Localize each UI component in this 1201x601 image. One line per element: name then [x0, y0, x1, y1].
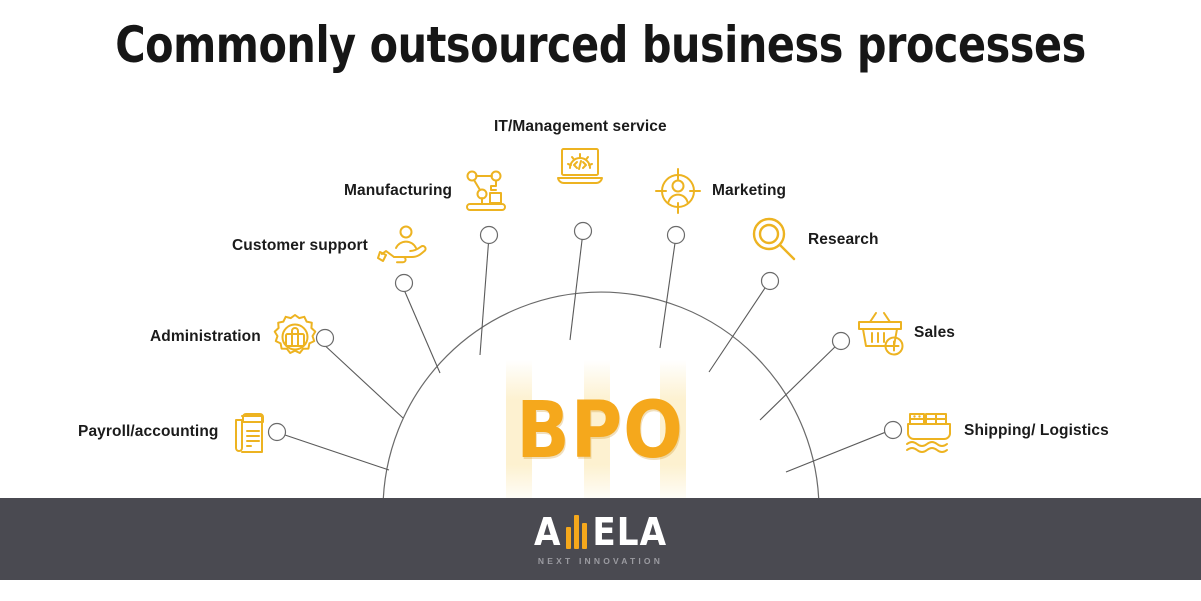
- node-manufacturing[interactable]: Manufacturing: [344, 163, 514, 219]
- magnifier-icon: [746, 212, 802, 268]
- node-research[interactable]: Research: [746, 212, 879, 268]
- spoke-payroll: [282, 434, 389, 470]
- node-administration[interactable]: Administration: [150, 309, 323, 365]
- spoke-support: [402, 285, 440, 373]
- logo-bars-icon: [566, 515, 587, 549]
- spoke-manufacturing: [480, 236, 489, 355]
- node-manufacturing-label: Manufacturing: [344, 182, 452, 200]
- spoke-research: [709, 282, 769, 372]
- spoke-admin: [320, 341, 403, 418]
- logo-bar-2: [574, 515, 579, 549]
- node-payroll-label: Payroll/accounting: [78, 423, 218, 441]
- node-administration-label: Administration: [150, 328, 261, 346]
- node-shipping[interactable]: Shipping/ Logistics: [902, 403, 1109, 459]
- node-it-management-label: IT/Management service: [494, 118, 667, 136]
- node-payroll[interactable]: Payroll/accounting: [78, 404, 280, 460]
- node-sales-label: Sales: [914, 324, 955, 342]
- logo-bar-1: [566, 527, 571, 549]
- logo-mark: A ELA: [534, 512, 667, 552]
- dot-it: [575, 223, 592, 240]
- logo-letters-right: ELA: [592, 513, 667, 551]
- spoke-sales: [760, 342, 840, 420]
- target-person-icon: [650, 163, 706, 219]
- dot-research: [762, 273, 779, 290]
- dot-marketing: [668, 227, 685, 244]
- logo-tagline: NEXT INNOVATION: [538, 556, 663, 566]
- bpo-label: BPO: [470, 392, 730, 470]
- logo-letter-left: A: [534, 513, 561, 551]
- dot-support: [396, 275, 413, 292]
- dot-sales: [833, 333, 850, 350]
- node-shipping-label: Shipping/ Logistics: [964, 422, 1109, 440]
- node-customer-support[interactable]: Customer support: [232, 218, 430, 274]
- hand-person-care-icon: [374, 218, 430, 274]
- node-research-label: Research: [808, 231, 879, 249]
- infographic-slide: Commonly outsourced business processes: [0, 0, 1201, 601]
- logo-bar-3: [582, 523, 587, 549]
- invoice-document-icon: [224, 404, 280, 460]
- footer-logo: A ELA NEXT INNOVATION: [0, 498, 1201, 580]
- node-marketing-label: Marketing: [712, 182, 786, 200]
- dot-manufacturing: [481, 227, 498, 244]
- spoke-it: [570, 232, 583, 340]
- spoke-marketing: [660, 236, 676, 348]
- node-it-management[interactable]: IT/Management service: [494, 118, 667, 194]
- spoke-shipping: [786, 430, 891, 472]
- node-sales[interactable]: Sales: [852, 305, 955, 361]
- gear-briefcase-icon: [267, 309, 323, 365]
- dot-shipping: [885, 422, 902, 439]
- center-bpo: BPO: [470, 360, 730, 505]
- node-customer-support-label: Customer support: [232, 237, 368, 255]
- cargo-ship-icon: [902, 403, 958, 459]
- shopping-basket-plus-icon: [852, 305, 908, 361]
- laptop-code-gear-icon: [552, 138, 608, 194]
- node-marketing[interactable]: Marketing: [650, 163, 786, 219]
